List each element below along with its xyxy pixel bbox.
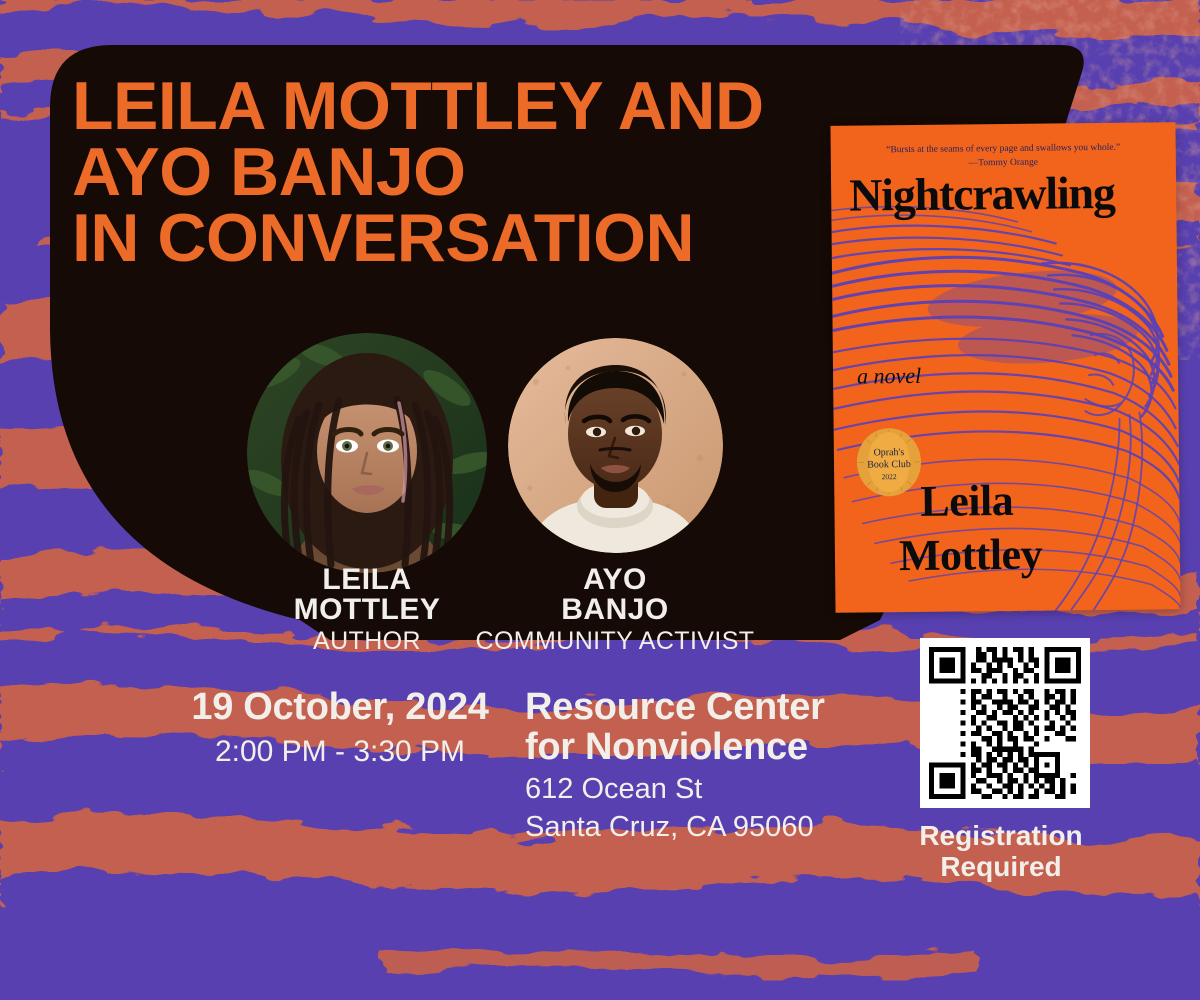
venue-address-line-1: 612 Ocean St <box>525 772 865 806</box>
headline-line-1: LEILA MOTTLEY AND <box>72 74 764 140</box>
speaker-name-line-1: LEILA <box>247 565 487 595</box>
speaker-label-leila-mottley: LEILA MOTTLEY AUTHOR <box>247 565 487 656</box>
book-title: Nightcrawling <box>849 169 1166 218</box>
avatar-leila-mottley <box>247 333 487 573</box>
speaker-name-line-1: AYO <box>470 565 760 595</box>
qr-code-icon[interactable] <box>920 638 1090 808</box>
book-author-line-1: Leila <box>920 479 1042 524</box>
speaker-name-line-2: BANJO <box>470 595 760 625</box>
registration-label-line-1: Registration <box>894 820 1108 851</box>
venue-address-line-2: Santa Cruz, CA 95060 <box>525 810 865 844</box>
event-date-block: 19 October, 2024 2:00 PM - 3:30 PM <box>175 688 505 770</box>
headline-line-2: AYO BANJO <box>72 140 764 206</box>
oprahs-book-club-badge: Oprah's Book Club 2022 <box>856 427 923 498</box>
book-cover-nightcrawling: “Bursts at the seams of every page and s… <box>830 122 1180 613</box>
event-poster: LEILA MOTTLEY AND AYO BANJO IN CONVERSAT… <box>0 0 1200 1000</box>
badge-line-1: Oprah's <box>873 447 904 458</box>
speaker-name-line-2: MOTTLEY <box>247 595 487 625</box>
book-author-line-2: Mottley <box>899 533 1043 578</box>
headline-line-3: IN CONVERSATION <box>72 206 764 272</box>
speaker-role: COMMUNITY ACTIVIST <box>470 627 760 656</box>
page-title: LEILA MOTTLEY AND AYO BANJO IN CONVERSAT… <box>72 74 764 272</box>
book-subtitle: a novel <box>857 363 921 390</box>
registration-block[interactable]: Registration Required <box>920 638 1108 883</box>
speaker-label-ayo-banjo: AYO BANJO COMMUNITY ACTIVIST <box>470 565 760 656</box>
badge-line-2: Book Club <box>867 459 911 470</box>
speaker-role: AUTHOR <box>247 627 487 656</box>
venue-name-line-2: for Nonviolence <box>525 728 865 768</box>
avatar-ayo-banjo <box>508 338 723 553</box>
book-author: Leila Mottley <box>920 479 1042 578</box>
badge-year: 2022 <box>882 472 897 481</box>
event-time: 2:00 PM - 3:30 PM <box>175 734 505 770</box>
venue-name-line-1: Resource Center <box>525 688 865 728</box>
event-venue-block: Resource Center for Nonviolence 612 Ocea… <box>525 688 865 844</box>
sponsor-logo-strip: Resource Center for NONVIOLENCE <box>0 872 1200 970</box>
event-date: 19 October, 2024 <box>175 688 505 728</box>
